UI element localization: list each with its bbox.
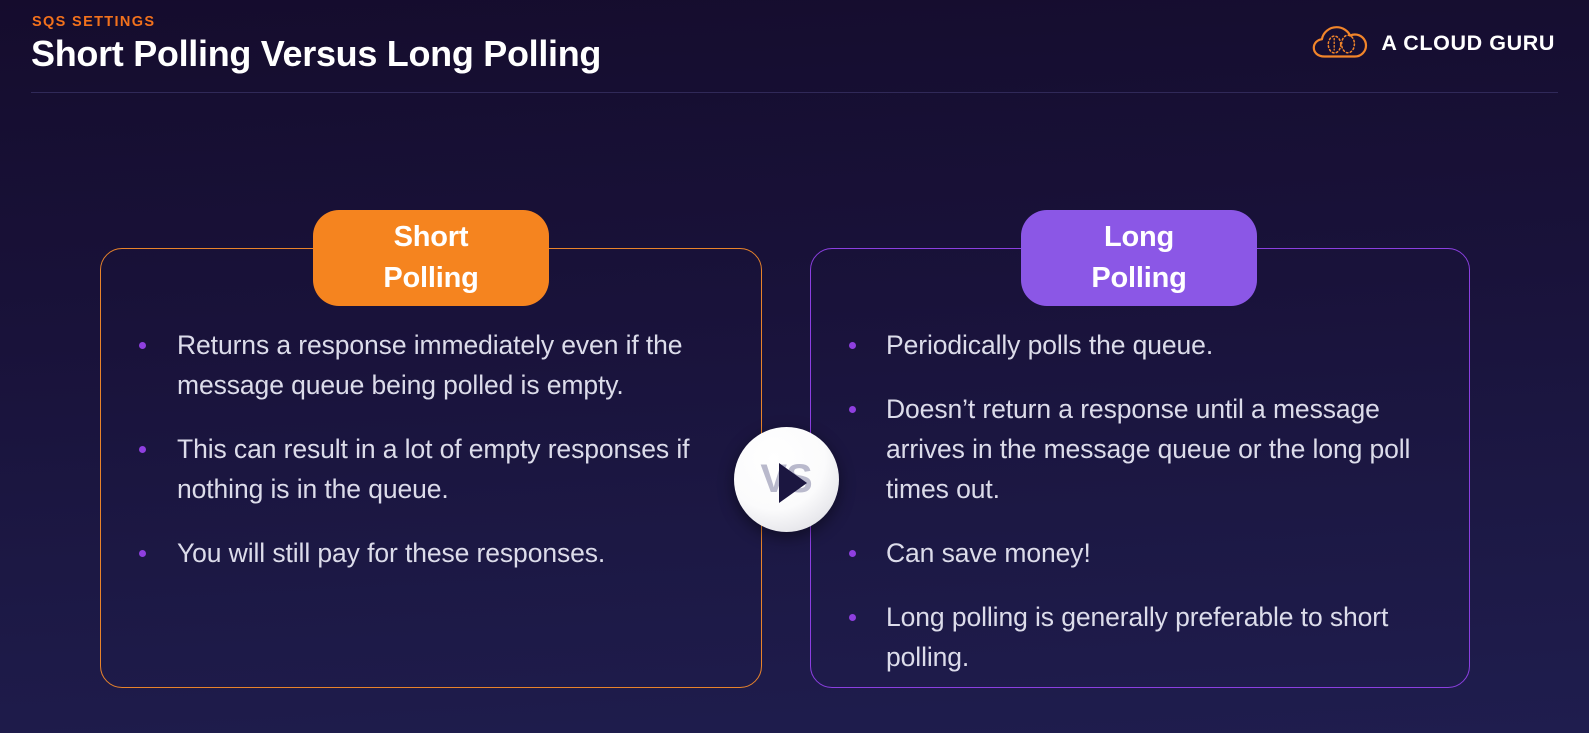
slide-header: SQS SETTINGS Short Polling Versus Long P… xyxy=(0,0,1589,94)
bullet-text: Returns a response immediately even if t… xyxy=(177,325,727,405)
cloud-icon xyxy=(1312,24,1368,62)
bullet-list-long-polling: Periodically polls the queue. Doesn’t re… xyxy=(849,325,1435,677)
bullet-text: Periodically polls the queue. xyxy=(886,325,1213,365)
badge-line-1: Short xyxy=(394,217,469,258)
bullet-text: This can result in a lot of empty respon… xyxy=(177,429,727,509)
header-divider xyxy=(31,92,1558,93)
brand-name: A CLOUD GURU xyxy=(1381,31,1555,56)
badge-long-polling: Long Polling xyxy=(1021,210,1257,306)
versus-label-icon: VS xyxy=(734,427,839,532)
page-title: Short Polling Versus Long Polling xyxy=(31,33,601,75)
badge-short-polling: Short Polling xyxy=(313,210,549,306)
list-item: Returns a response immediately even if t… xyxy=(139,325,727,405)
bullet-list-short-polling: Returns a response immediately even if t… xyxy=(139,325,727,573)
brand-logo: A CLOUD GURU xyxy=(1312,24,1555,62)
badge-line-1: Long xyxy=(1104,217,1174,258)
list-item: Can save money! xyxy=(849,533,1435,573)
bullet-text: You will still pay for these responses. xyxy=(177,533,605,573)
list-item: This can result in a lot of empty respon… xyxy=(139,429,727,509)
panel-body-short-polling: Returns a response immediately even if t… xyxy=(101,325,761,573)
bullet-dot-icon xyxy=(849,614,856,621)
panel-long-polling: Periodically polls the queue. Doesn’t re… xyxy=(810,248,1470,688)
list-item: Doesn’t return a response until a messag… xyxy=(849,389,1435,509)
bullet-dot-icon xyxy=(849,342,856,349)
bullet-dot-icon xyxy=(849,406,856,413)
badge-line-2: Polling xyxy=(1091,258,1186,299)
slide-root: SQS SETTINGS Short Polling Versus Long P… xyxy=(0,0,1589,733)
list-item: Long polling is generally preferable to … xyxy=(849,597,1435,677)
bullet-dot-icon xyxy=(139,446,146,453)
list-item: You will still pay for these responses. xyxy=(139,533,727,573)
bullet-dot-icon xyxy=(849,550,856,557)
badge-line-2: Polling xyxy=(383,258,478,299)
bullet-dot-icon xyxy=(139,550,146,557)
bullet-text: Doesn’t return a response until a messag… xyxy=(886,389,1435,509)
eyebrow-label: SQS SETTINGS xyxy=(32,14,155,30)
bullet-dot-icon xyxy=(139,342,146,349)
bullet-text: Can save money! xyxy=(886,533,1091,573)
bullet-text: Long polling is generally preferable to … xyxy=(886,597,1435,677)
panel-body-long-polling: Periodically polls the queue. Doesn’t re… xyxy=(811,325,1469,677)
panel-short-polling: Returns a response immediately even if t… xyxy=(100,248,762,688)
list-item: Periodically polls the queue. xyxy=(849,325,1435,365)
versus-badge: VS xyxy=(734,427,839,532)
